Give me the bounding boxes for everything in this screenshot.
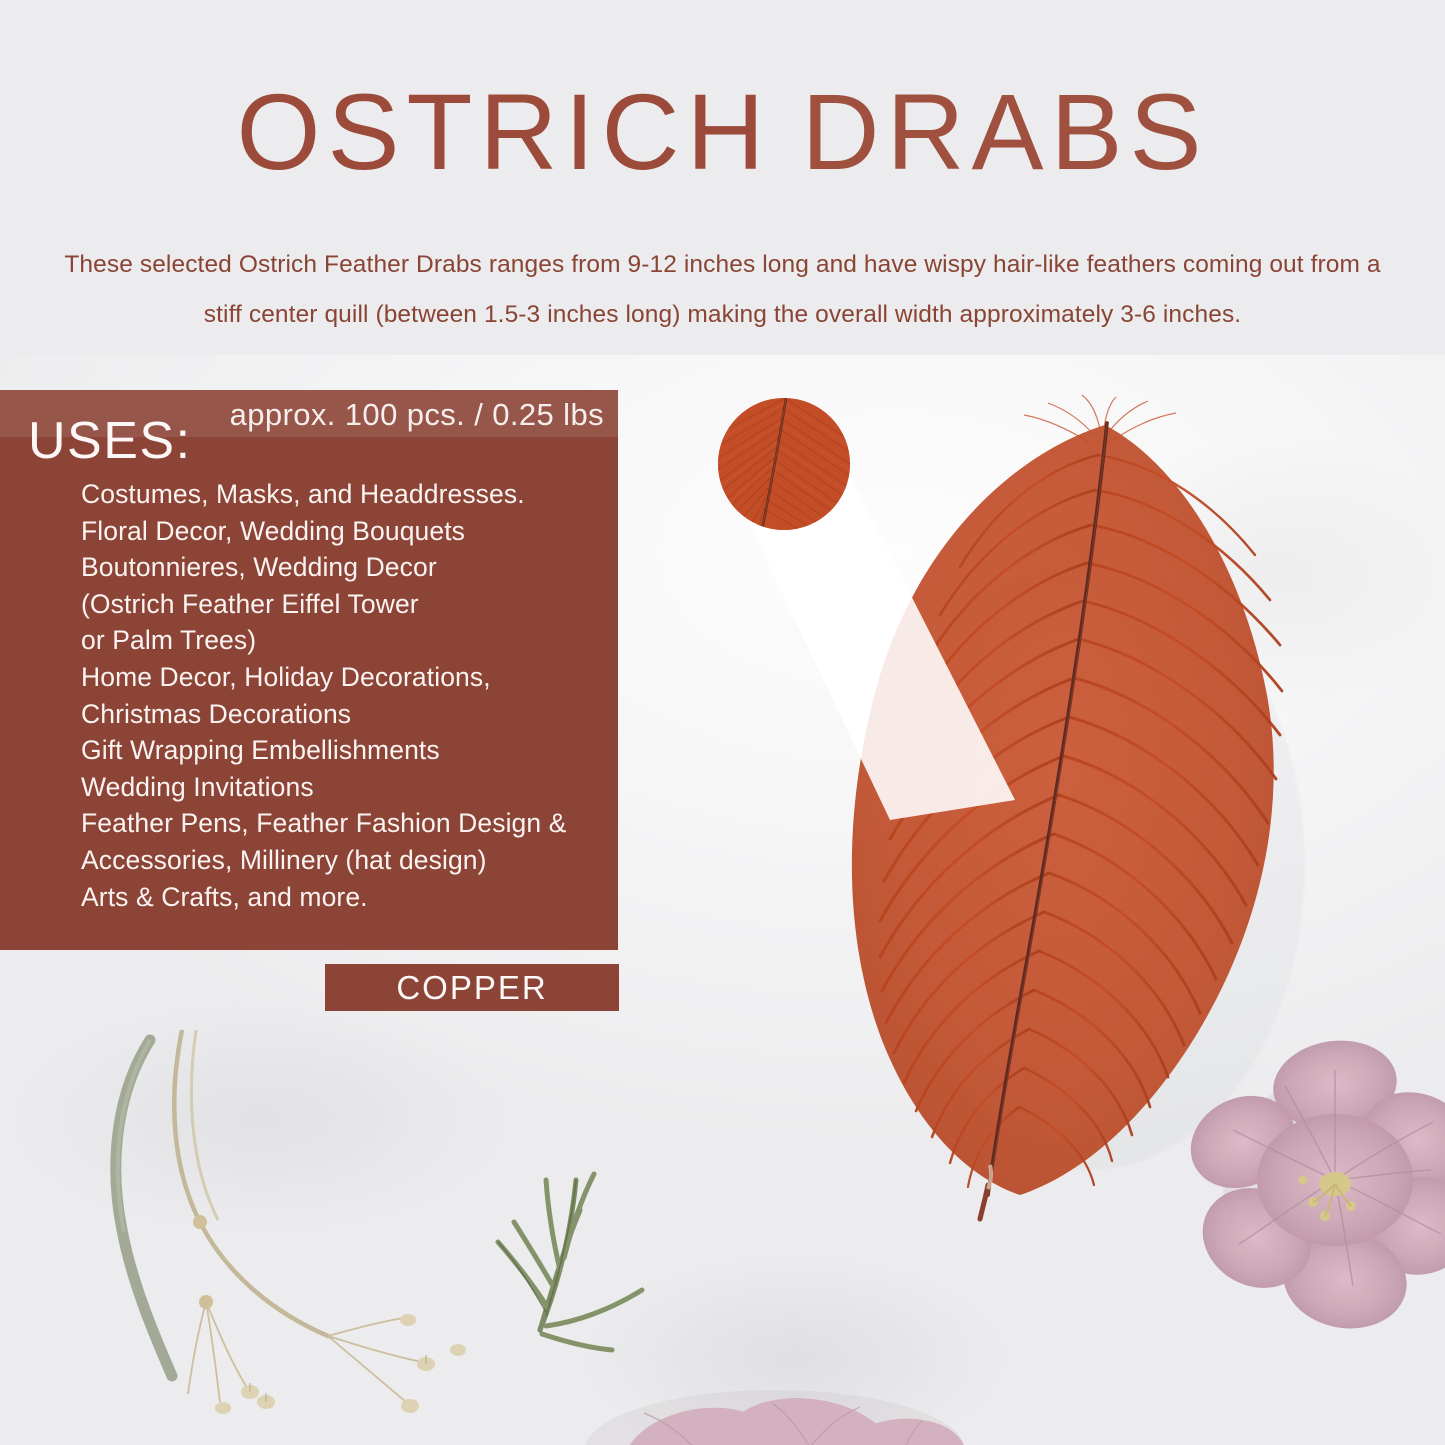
botanical-flower-right (1185, 1030, 1445, 1330)
color-name-banner: COPPER (325, 964, 619, 1011)
product-description: These selected Ostrich Feather Drabs ran… (50, 240, 1395, 340)
botanical-flower-bottom (560, 1355, 990, 1445)
list-item: Floral Decor, Wedding Bouquets (81, 513, 611, 550)
botanical-left (60, 1030, 520, 1445)
page-title: OSTRICHDRABS (0, 78, 1445, 186)
title-word-drabs: DRABS (801, 71, 1208, 192)
list-item: Gift Wrapping Embellishments (81, 732, 611, 769)
title-word-ostrich: OSTRICH (236, 71, 771, 192)
list-item: Home Decor, Holiday Decorations, (81, 659, 611, 696)
list-item: Costumes, Masks, and Headdresses. (81, 476, 611, 513)
color-name-label: COPPER (396, 969, 547, 1007)
list-item: Wedding Invitations (81, 769, 611, 806)
list-item: Accessories, Millinery (hat design) (81, 842, 611, 879)
feather-closeup-magnifier (718, 398, 850, 530)
dried-mauve-flower-icon (1185, 1030, 1445, 1330)
list-item: Boutonnieres, Wedding Decor (81, 549, 611, 586)
quantity-label: approx. 100 pcs. / 0.25 lbs (230, 394, 604, 436)
list-item: Arts & Crafts, and more. (81, 879, 611, 916)
feather-barb-closeup-icon (718, 398, 850, 530)
dried-pink-petals-icon (560, 1355, 990, 1445)
product-infographic: OSTRICHDRABS These selected Ostrich Feat… (0, 0, 1445, 1445)
uses-heading: USES: (28, 412, 192, 470)
list-item: Feather Pens, Feather Fashion Design & (81, 805, 611, 842)
uses-list: Costumes, Masks, and Headdresses. Floral… (81, 476, 611, 915)
list-item: or Palm Trees) (81, 622, 611, 659)
list-item: (Ostrich Feather Eiffel Tower (81, 586, 611, 623)
list-item: Christmas Decorations (81, 696, 611, 733)
dried-gypsophila-stems-icon (60, 1030, 520, 1445)
